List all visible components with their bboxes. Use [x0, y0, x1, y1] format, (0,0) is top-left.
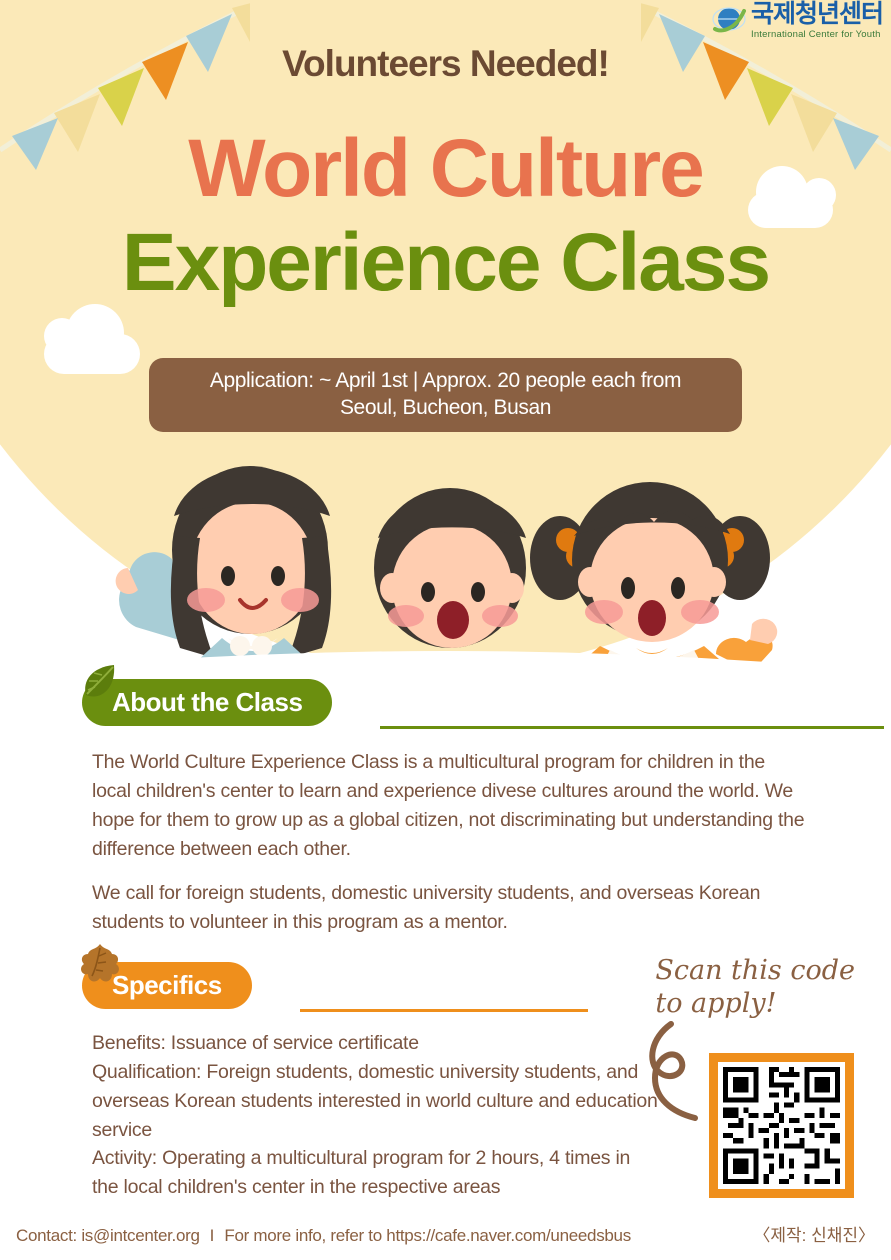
- footer-more-info: For more info, refer to https://cafe.nav…: [224, 1226, 631, 1246]
- about-body: The World Culture Experience Class is a …: [92, 748, 808, 937]
- poster-root: 국제청년센터 International Center for Youth Vo…: [0, 0, 891, 1260]
- about-paragraph-2: We call for foreign students, domestic u…: [92, 879, 808, 937]
- page-title-line2: Experience Class: [0, 222, 891, 304]
- organization-logo: 국제청년센터 International Center for Youth: [712, 2, 883, 40]
- leaf-icon: [78, 661, 122, 712]
- divider-specifics: [300, 1009, 588, 1012]
- scan-note-line2: to apply!: [655, 988, 855, 1021]
- children-illustration: [0, 440, 891, 705]
- oak-leaf-icon: [76, 942, 124, 995]
- logo-english-name: International Center for Youth: [751, 30, 883, 40]
- globe-icon: [712, 4, 746, 38]
- scan-note-line1: Scan this code: [655, 955, 855, 988]
- specifics-line-2: Qualification: Foreign students, domesti…: [92, 1058, 658, 1145]
- page-title-line1: World Culture: [0, 128, 891, 210]
- divider-about: [380, 726, 884, 729]
- application-banner-line1: Application: ~ April 1st | Approx. 20 pe…: [163, 368, 728, 395]
- footer: Contact: is@intcenter.org I For more inf…: [0, 1221, 891, 1246]
- application-banner: Application: ~ April 1st | Approx. 20 pe…: [149, 358, 742, 432]
- about-paragraph-1: The World Culture Experience Class is a …: [92, 748, 808, 863]
- footer-contact: Contact: is@intcenter.org: [16, 1226, 200, 1246]
- footer-credit: 〈제작: 신채진〉: [753, 1221, 875, 1246]
- section-about-header: About the Class: [82, 679, 332, 726]
- kicker-text: Volunteers Needed!: [0, 43, 891, 85]
- application-banner-line2: Seoul, Bucheon, Busan: [163, 395, 728, 422]
- kid-girl-blue: [116, 466, 332, 686]
- specifics-line-1: Benefits: Issuance of service certificat…: [92, 1029, 658, 1058]
- qr-code-container[interactable]: [709, 1053, 854, 1198]
- specifics-body: Benefits: Issuance of service certificat…: [92, 1029, 658, 1202]
- cloud-icon-left: [44, 334, 140, 374]
- section-specifics-header: Specifics: [82, 962, 252, 1009]
- scan-note: Scan this code to apply!: [655, 955, 855, 1021]
- logo-korean-name: 국제청년센터: [751, 2, 883, 27]
- footer-separator: I: [210, 1226, 215, 1246]
- qr-code-icon[interactable]: [718, 1062, 845, 1189]
- specifics-line-3: Activity: Operating a multicultural prog…: [92, 1144, 658, 1202]
